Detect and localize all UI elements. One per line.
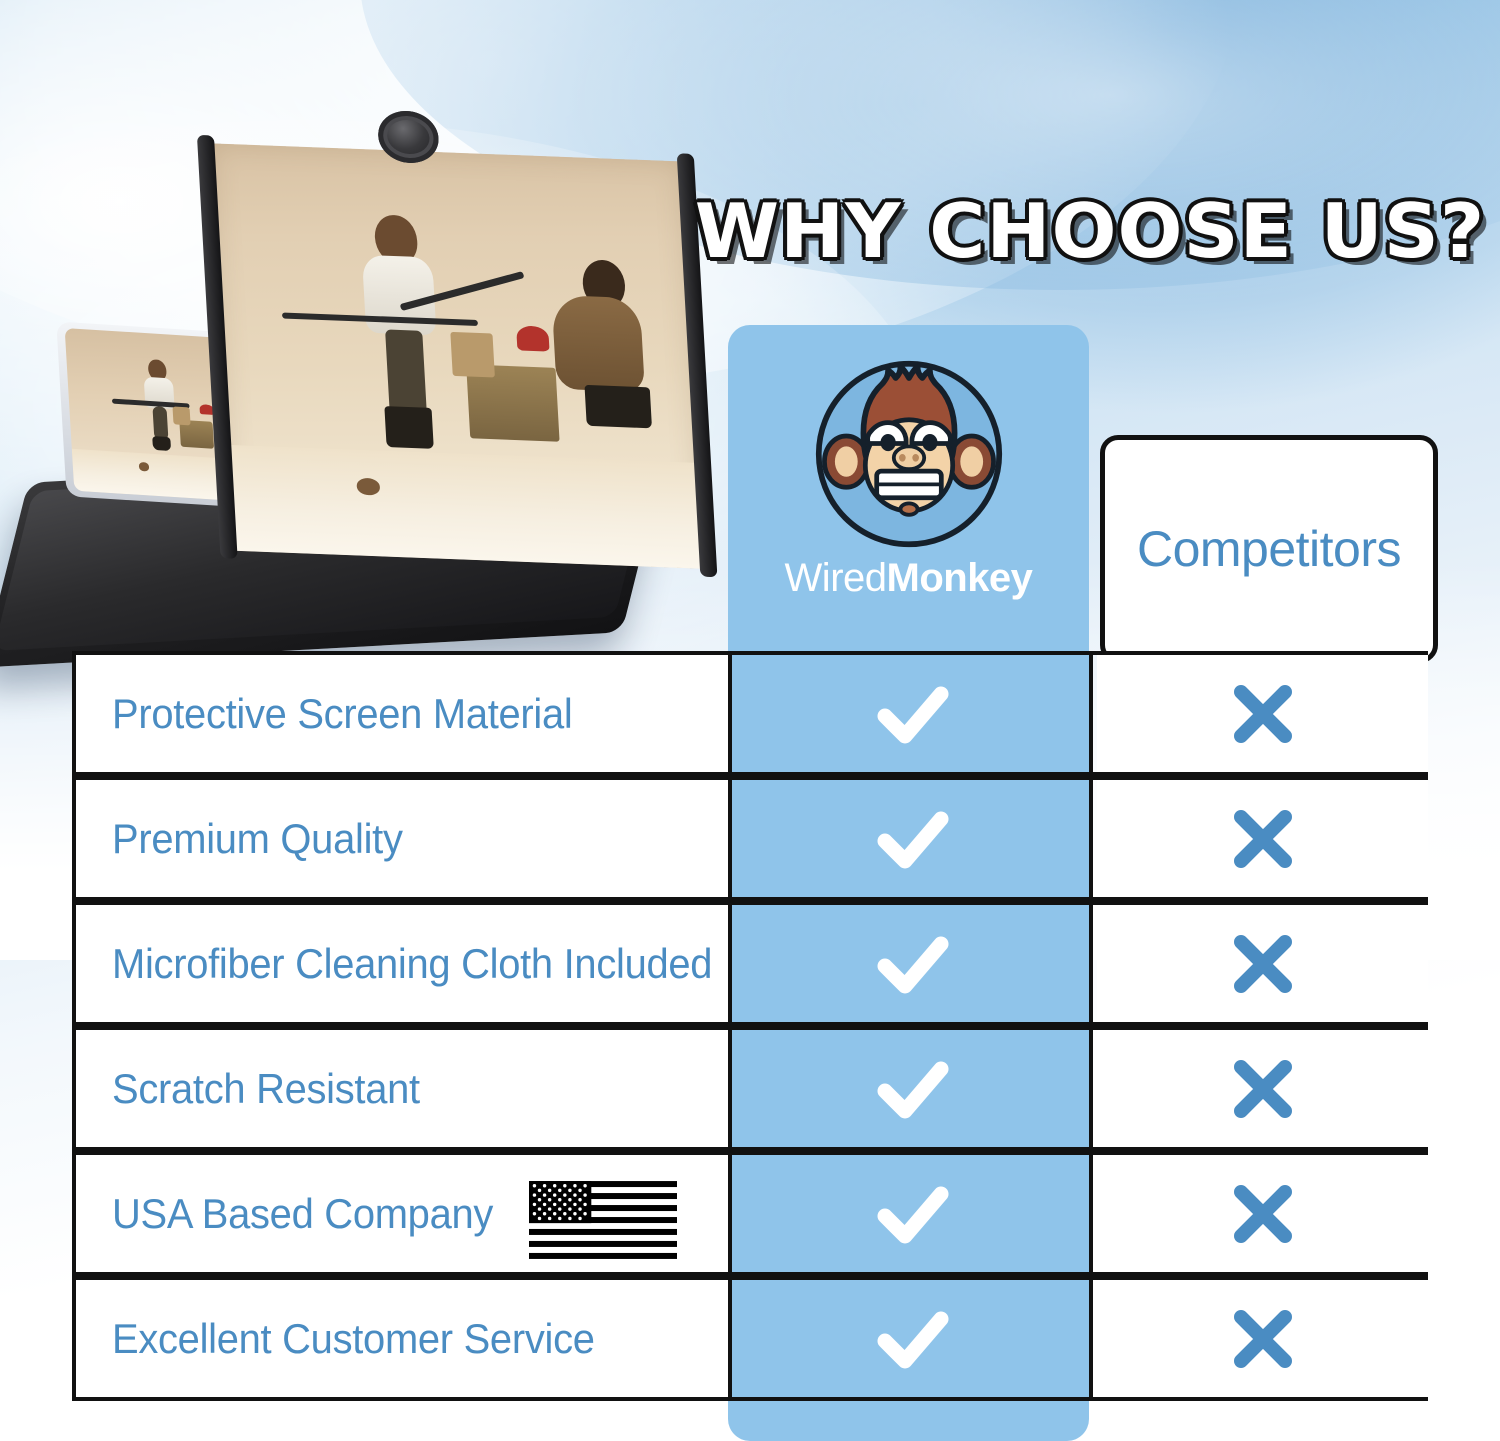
brand-name: WiredMonkey xyxy=(728,555,1089,601)
feature-label: Excellent Customer Service xyxy=(112,1315,595,1363)
them-cell xyxy=(1097,780,1428,897)
feature-label: Scratch Resistant xyxy=(112,1065,420,1113)
usa-flag-icon xyxy=(529,1178,677,1262)
feature-cell: Microfiber Cleaning Cloth Included xyxy=(76,905,732,1022)
competitors-header-card: Competitors xyxy=(1100,435,1438,663)
brand-name-thin: Wired xyxy=(785,556,887,600)
them-cell xyxy=(1097,905,1428,1022)
brand-name-bold: Monkey xyxy=(887,556,1033,600)
them-cell xyxy=(1097,1155,1428,1272)
us-cell xyxy=(732,1155,1093,1272)
us-cell xyxy=(732,1030,1093,1147)
table-row: Premium Quality xyxy=(72,776,1428,901)
table-row: Protective Screen Material xyxy=(72,651,1428,776)
check-icon xyxy=(863,1289,963,1389)
check-icon xyxy=(863,1164,963,1264)
monkey-face-icon xyxy=(814,359,1004,549)
cross-icon xyxy=(1213,914,1313,1014)
feature-label: Protective Screen Material xyxy=(112,690,573,738)
check-icon xyxy=(863,789,963,889)
table-row: USA Based Company xyxy=(72,1151,1428,1276)
feature-cell: Protective Screen Material xyxy=(76,655,732,772)
check-icon xyxy=(863,664,963,764)
brand-logo-card: WiredMonkey xyxy=(728,325,1089,651)
cross-icon xyxy=(1213,789,1313,889)
table-row: Excellent Customer Service xyxy=(72,1276,1428,1401)
us-cell xyxy=(732,905,1093,1022)
cross-icon xyxy=(1213,1164,1313,1264)
feature-label: Premium Quality xyxy=(112,815,403,863)
us-cell xyxy=(732,1280,1093,1397)
them-cell xyxy=(1097,1030,1428,1147)
feature-cell: Premium Quality xyxy=(76,780,732,897)
check-icon xyxy=(863,914,963,1014)
them-cell xyxy=(1097,655,1428,772)
feature-cell: Scratch Resistant xyxy=(76,1030,732,1147)
feature-label: Microfiber Cleaning Cloth Included xyxy=(112,940,712,988)
check-icon xyxy=(863,1039,963,1139)
feature-cell: USA Based Company xyxy=(76,1155,732,1272)
comparison-infographic: WHY CHOOSE US? xyxy=(0,0,1500,1441)
magnifier-screen xyxy=(193,143,718,582)
them-cell xyxy=(1097,1280,1428,1397)
cross-icon xyxy=(1213,664,1313,764)
us-cell xyxy=(732,655,1093,772)
table-row: Microfiber Cleaning Cloth Included xyxy=(72,901,1428,1026)
table-row: Scratch Resistant xyxy=(72,1026,1428,1151)
comparison-table: Protective Screen Material Premium Quali… xyxy=(72,651,1428,1401)
column-divider-them xyxy=(1089,651,1093,1401)
page-title: WHY CHOOSE US? xyxy=(682,186,1498,276)
product-photo xyxy=(0,70,730,640)
us-cell xyxy=(732,780,1093,897)
column-divider-us xyxy=(728,651,732,1401)
feature-label: USA Based Company xyxy=(112,1190,493,1238)
cross-icon xyxy=(1213,1039,1313,1139)
feature-cell: Excellent Customer Service xyxy=(76,1280,732,1397)
cross-icon xyxy=(1213,1289,1313,1389)
competitors-label: Competitors xyxy=(1137,520,1401,578)
